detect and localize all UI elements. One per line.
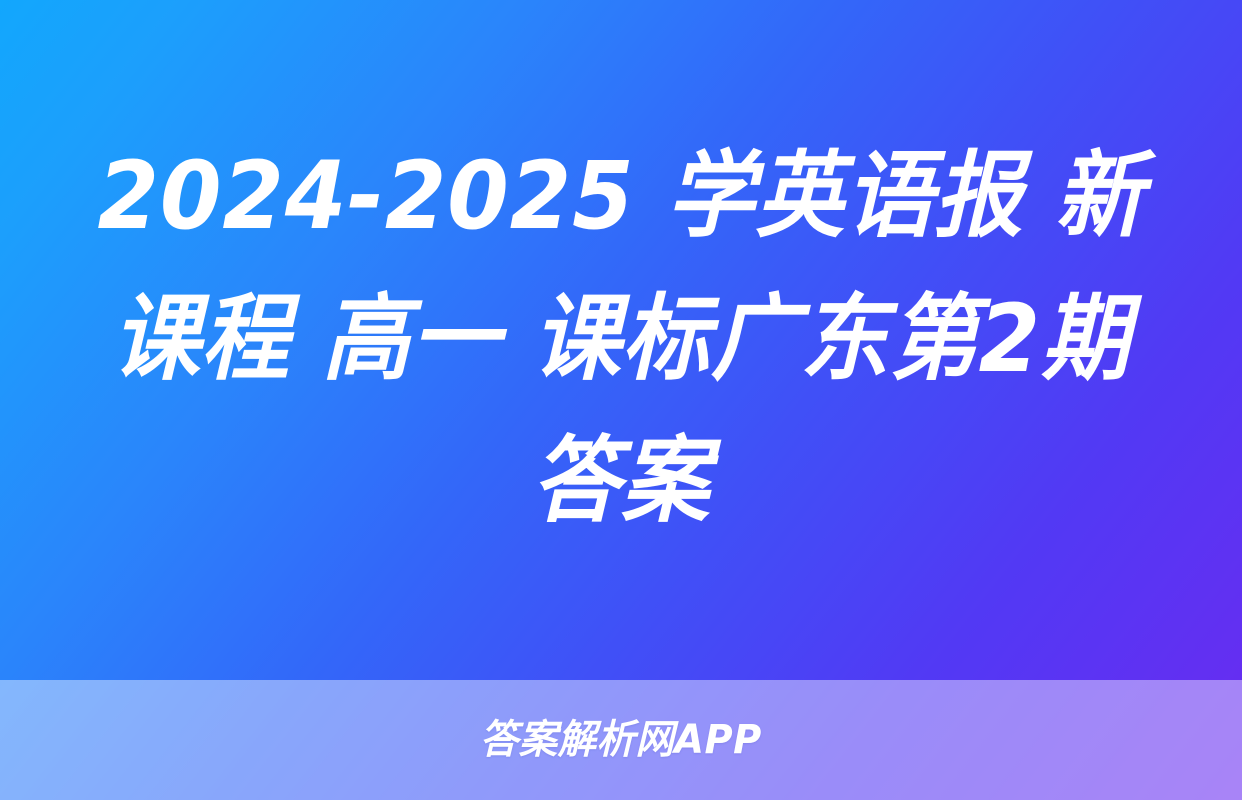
footer-watermark-band: 答案解析网APP	[0, 680, 1242, 800]
poster-canvas: 2024-2025 学英语报 新课程 高一 课标广东第2期答案 答案解析网APP	[0, 0, 1242, 800]
watermark-app-name: 答案解析网APP	[480, 720, 762, 760]
title-container: 2024-2025 学英语报 新课程 高一 课标广东第2期答案	[0, 0, 1242, 680]
page-title: 2024-2025 学英语报 新课程 高一 课标广东第2期答案	[88, 126, 1154, 555]
